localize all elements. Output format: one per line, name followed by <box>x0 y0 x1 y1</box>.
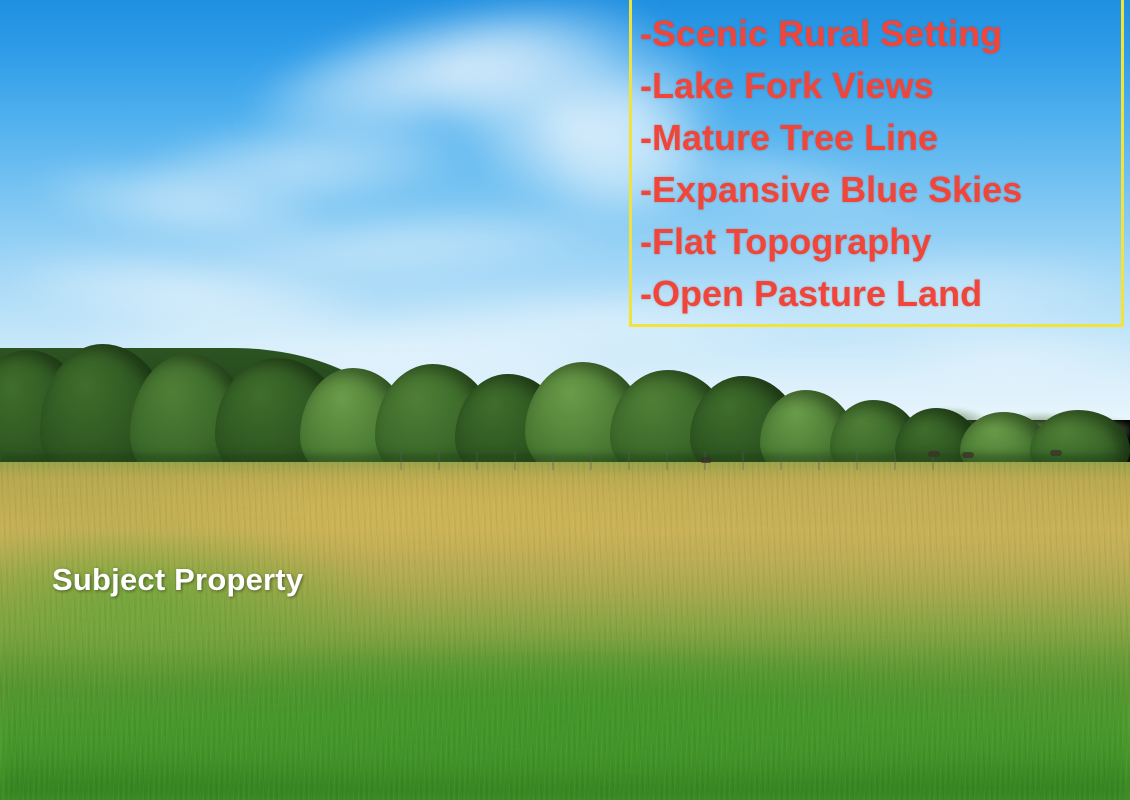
cattle <box>962 452 974 458</box>
features-callout-box: -Scenic Rural Setting -Lake Fork Views -… <box>629 0 1124 327</box>
fence-line <box>400 452 940 470</box>
feature-item: -Lake Fork Views <box>640 60 1115 112</box>
feature-item: -Flat Topography <box>640 216 1115 268</box>
green-grass-foreground <box>0 640 1130 800</box>
cattle <box>928 451 940 457</box>
feature-item: -Open Pasture Land <box>640 268 1115 320</box>
feature-item: -Scenic Rural Setting <box>640 8 1115 60</box>
cattle <box>1050 450 1062 456</box>
feature-item: -Expansive Blue Skies <box>640 164 1115 216</box>
cattle <box>700 457 712 463</box>
subject-property-label: Subject Property <box>52 562 303 598</box>
photo-overlay-canvas: -Scenic Rural Setting -Lake Fork Views -… <box>0 0 1130 800</box>
feature-item: -Mature Tree Line <box>640 112 1115 164</box>
